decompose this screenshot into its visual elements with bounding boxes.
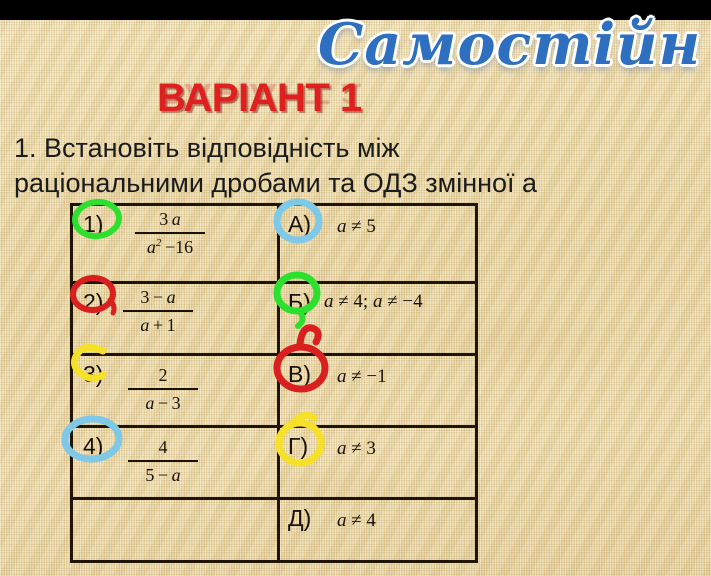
table-row: 1) 3 a a2 −16 А) a ≠ 5 [73, 206, 475, 284]
matching-table: 1) 3 a a2 −16 А) a ≠ 5 2) 3 − a a + [70, 203, 478, 563]
fraction-bar [135, 232, 205, 234]
page-title-main: Самостійн [318, 16, 701, 73]
item-number-label: 4) [83, 433, 103, 460]
fraction-numerator: 4 [128, 436, 198, 459]
table-row: 2) 3 − a a + 1 Б) a ≠ 4; a ≠ −4 [73, 284, 475, 356]
fraction-denominator: a + 1 [123, 314, 193, 337]
fraction-4: 4 5 − a [128, 436, 198, 486]
fraction-denominator: a2 −16 [135, 236, 205, 259]
option-expression: a ≠ 4; a ≠ −4 [324, 291, 423, 313]
option-expression: a ≠ 3 [337, 438, 376, 460]
table-cell-answer: Б) a ≠ 4; a ≠ −4 [280, 284, 481, 353]
fraction-numerator: 2 [128, 364, 198, 387]
option-expression: a ≠ 4 [337, 510, 376, 532]
table-cell-answer: А) a ≠ 5 [280, 206, 481, 281]
table-row: 3) 2 a − 3 В) a ≠ −1 [73, 356, 475, 428]
option-expression: a ≠ 5 [337, 216, 376, 238]
variant-title: ВАРІАНТ 1 [157, 78, 362, 118]
table-row: Д) a ≠ 4 [73, 500, 475, 560]
fraction-numerator: 3 − a [123, 286, 193, 309]
table-cell-answer: В) a ≠ −1 [280, 356, 481, 425]
option-letter-label: В) [288, 361, 311, 388]
slide-canvas: Самостійн ВАРІАНТ 1 ВАРІАНТ 1 1. Встанов… [0, 0, 711, 576]
table-cell-answer: Г) a ≠ 3 [280, 428, 481, 497]
fraction-numerator: 3 a [135, 208, 205, 231]
fraction-bar [128, 388, 198, 390]
table-cell-fraction: 2) 3 − a a + 1 [73, 284, 277, 353]
table-row: 4) 4 5 − a Г) a ≠ 3 [73, 428, 475, 500]
option-letter-label: А) [288, 211, 311, 238]
table-cell-answer: Д) a ≠ 4 [280, 500, 481, 560]
table-cell-fraction: 4) 4 5 − a [73, 428, 277, 497]
fraction-bar [128, 460, 198, 462]
option-letter-label: Б) [288, 289, 311, 316]
item-number-label: 1) [83, 211, 103, 238]
option-letter-label: Д) [288, 505, 311, 532]
fraction-denominator: 5 − a [128, 464, 198, 487]
table-cell-fraction [73, 500, 277, 560]
item-number-label: 3) [83, 361, 103, 388]
fraction-2: 3 − a a + 1 [123, 286, 193, 336]
option-letter-label: Г) [288, 433, 308, 460]
table-cell-fraction: 1) 3 a a2 −16 [73, 206, 277, 281]
fraction-3: 2 a − 3 [128, 364, 198, 414]
item-number-label: 2) [83, 289, 103, 316]
fraction-bar [123, 310, 193, 312]
table-cell-fraction: 3) 2 a − 3 [73, 356, 277, 425]
option-expression: a ≠ −1 [337, 366, 387, 388]
question-text: 1. Встановіть відповідність між раціонал… [14, 131, 704, 200]
fraction-denominator: a − 3 [128, 392, 198, 415]
fraction-1: 3 a a2 −16 [135, 208, 205, 258]
